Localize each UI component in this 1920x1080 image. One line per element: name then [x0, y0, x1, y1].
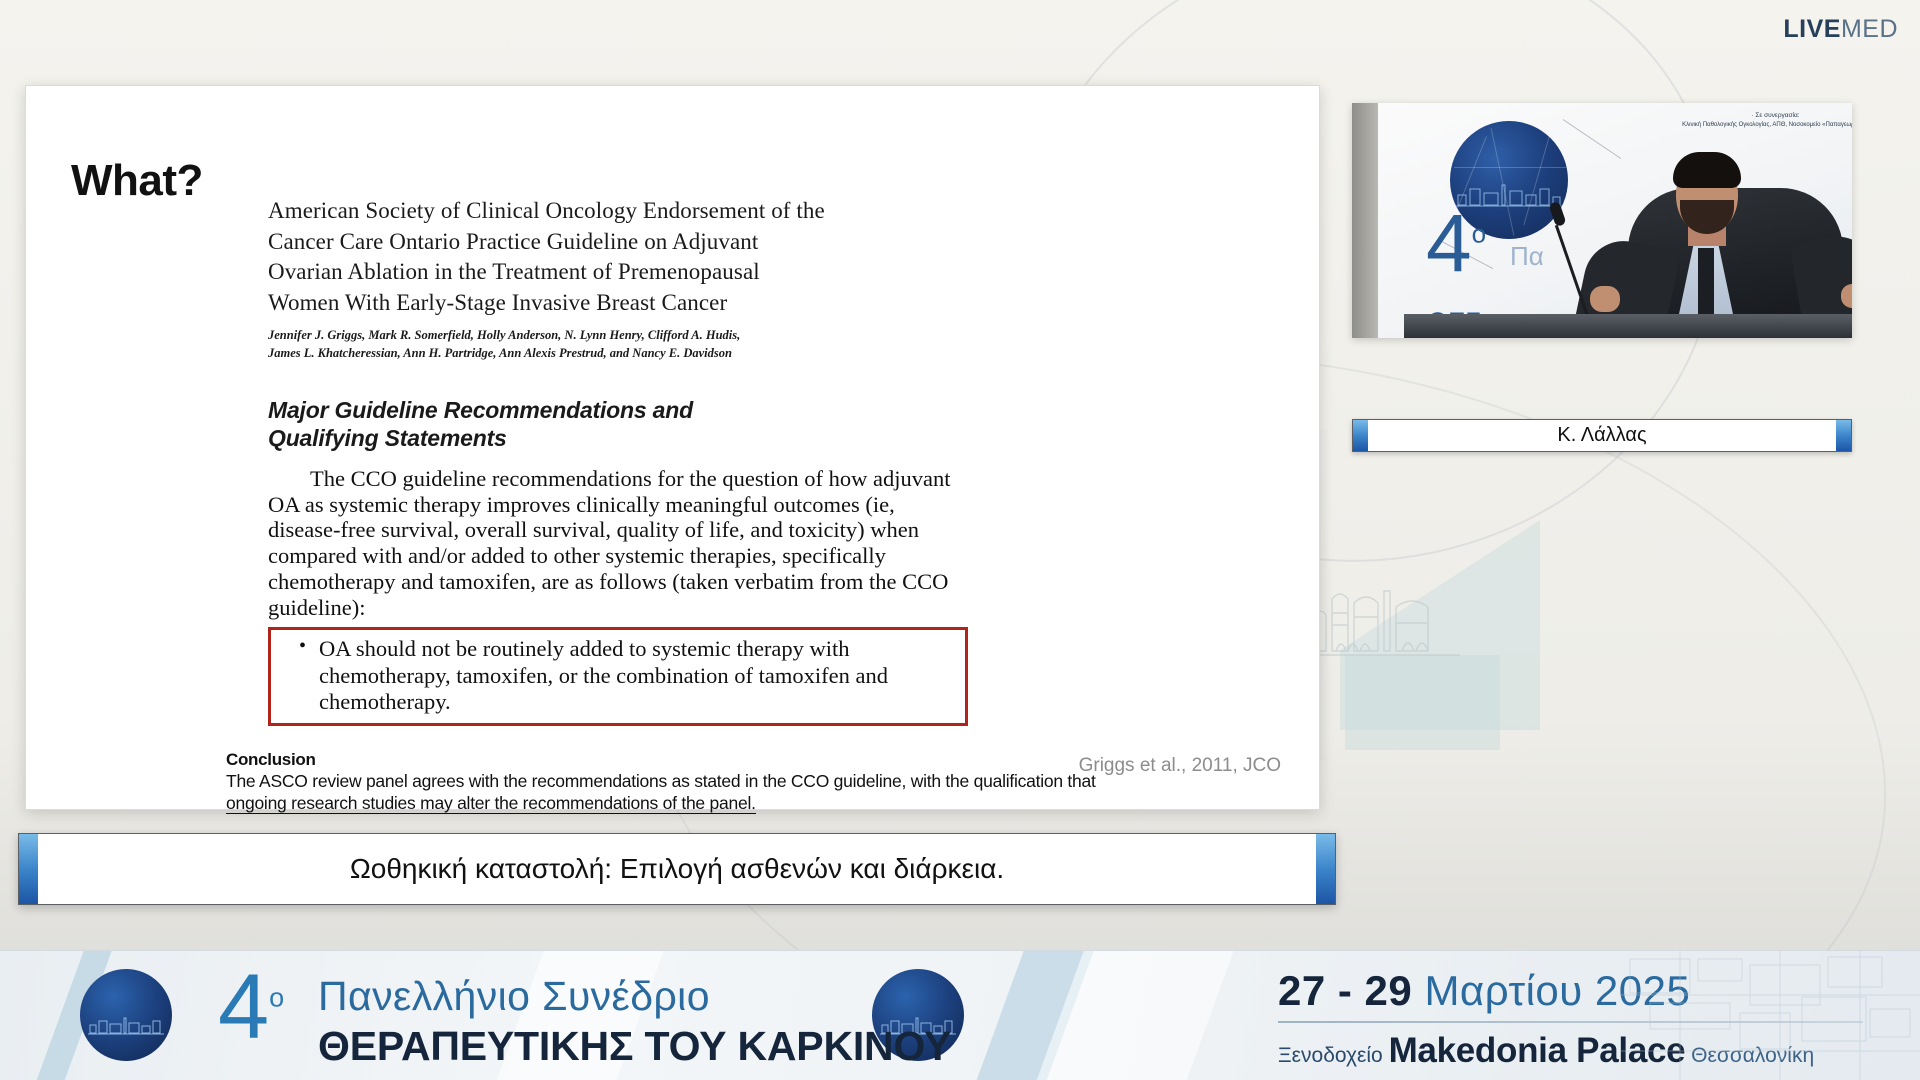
- banner-globe-left-icon: [80, 969, 172, 1061]
- microphone-head-icon: [1548, 201, 1566, 227]
- presentation-slide[interactable]: What? American Society of Clinical Oncol…: [25, 85, 1320, 810]
- backdrop-leader-line: [1563, 119, 1622, 159]
- conference-banner: 4o Πανελλήνιο Συνέδριο ΘΕΡΑΠΕΥΤΙΚΗΣ ΤΟΥ …: [0, 950, 1920, 1080]
- presentation-title-bar: Ωοθηκική καταστολή: Επιλογή ασθενών και …: [18, 833, 1336, 905]
- title-bar-accent-left: [19, 834, 38, 904]
- banner-ordinal-sup: o: [269, 982, 284, 1012]
- speaker-hand-left: [1590, 286, 1620, 312]
- coop-organization: Κλινική Παθολογικής Ογκολογίας, ΑΠΘ, Νοσ…: [1678, 121, 1852, 130]
- skyline-watermark-icon: [1310, 555, 1540, 665]
- presentation-title-label: Ωοθηκική καταστολή: Επιλογή ασθενών και …: [38, 853, 1316, 885]
- article-title-line: Ovarian Ablation in the Treatment of Pre…: [268, 257, 1278, 288]
- recommendation-bullet-list: OA should not be routinely added to syst…: [275, 636, 957, 714]
- name-plate-accent-right: [1836, 420, 1851, 451]
- slide-heading: What?: [71, 156, 203, 206]
- video-backdrop-board: · Σε συνεργασία: Κλινική Παθολογικής Ογκ…: [1378, 103, 1852, 338]
- recommendations-heading-line: Qualifying Statements: [268, 424, 1278, 452]
- banner-venue-prefix: Ξενοδοχείο: [1278, 1044, 1383, 1067]
- article-author-line: Jennifer J. Griggs, Mark R. Somerfield, …: [268, 327, 1278, 345]
- speaker-name-plate: Κ. Λάλλας: [1352, 419, 1852, 452]
- speaker-hair: [1673, 152, 1741, 188]
- backdrop-ordinal-number: 4: [1426, 198, 1472, 289]
- coop-label: · Σε συνεργασία:: [1678, 111, 1852, 121]
- banner-ordinal-number: 4: [218, 956, 269, 1058]
- name-plate-accent-left: [1353, 420, 1368, 451]
- speaker-video-feed[interactable]: · Σε συνεργασία: Κλινική Παθολογικής Ογκ…: [1352, 103, 1852, 338]
- video-wall-left: [1352, 103, 1378, 338]
- recommendations-heading-line: Major Guideline Recommendations and: [268, 396, 1278, 424]
- backdrop-cooperation-text: · Σε συνεργασία: Κλινική Παθολογικής Ογκ…: [1678, 111, 1852, 130]
- backdrop-word-partial: Πα: [1510, 241, 1544, 272]
- recommendations-heading: Major Guideline Recommendations and Qual…: [268, 396, 1278, 452]
- podium-desk: [1404, 314, 1852, 338]
- speaker-name-label: Κ. Λάλλας: [1368, 424, 1836, 447]
- logo-med-text: MED: [1841, 15, 1898, 43]
- article-title: American Society of Clinical Oncology En…: [268, 196, 1278, 318]
- banner-conference-line2: ΘΕΡΑΠΕΥΤΙΚΗΣ ΤΟΥ ΚΑΡΚΙΝΟΥ: [318, 1023, 951, 1070]
- banner-ordinal: 4o: [218, 961, 284, 1053]
- article-title-line: American Society of Clinical Oncology En…: [268, 196, 1278, 227]
- title-bar-accent-right: [1316, 834, 1335, 904]
- conclusion-text: The ASCO review panel agrees with the re…: [226, 770, 1106, 815]
- journal-article-clipping: American Society of Clinical Oncology En…: [268, 196, 1278, 814]
- highlighted-recommendation-box: OA should not be routinely added to syst…: [268, 627, 968, 725]
- logo-live-text: LIVE: [1783, 15, 1841, 43]
- globe-skyline-icon: [88, 1015, 164, 1035]
- article-author-line: James L. Khatcheressian, Ann H. Partridg…: [268, 345, 1278, 363]
- backdrop-ordinal: 4o: [1426, 203, 1486, 285]
- slide-citation: Griggs et al., 2011, JCO: [1079, 755, 1281, 777]
- banner-grid-pattern: [1620, 951, 1920, 1080]
- list-item: OA should not be routinely added to syst…: [275, 636, 957, 714]
- conclusion-text-underlined: ongoing research studies may alter the r…: [226, 793, 756, 814]
- recommendations-body-text: The CCO guideline recommendations for th…: [268, 466, 968, 621]
- article-authors: Jennifer J. Griggs, Mark R. Somerfield, …: [268, 327, 1278, 363]
- microphone-stem-icon: [1555, 225, 1589, 317]
- conclusion-text-plain: The ASCO review panel agrees with the re…: [226, 771, 1096, 791]
- article-title-line: Women With Early-Stage Invasive Breast C…: [268, 288, 1278, 319]
- backdrop-ordinal-sup: o: [1472, 219, 1486, 249]
- article-title-line: Cancer Care Ontario Practice Guideline o…: [268, 227, 1278, 258]
- banner-conference-line1: Πανελλήνιο Συνέδριο: [318, 973, 710, 1020]
- livemed-logo: LIVEMED: [1783, 15, 1898, 44]
- banner-date-range: 27 - 29: [1278, 967, 1412, 1014]
